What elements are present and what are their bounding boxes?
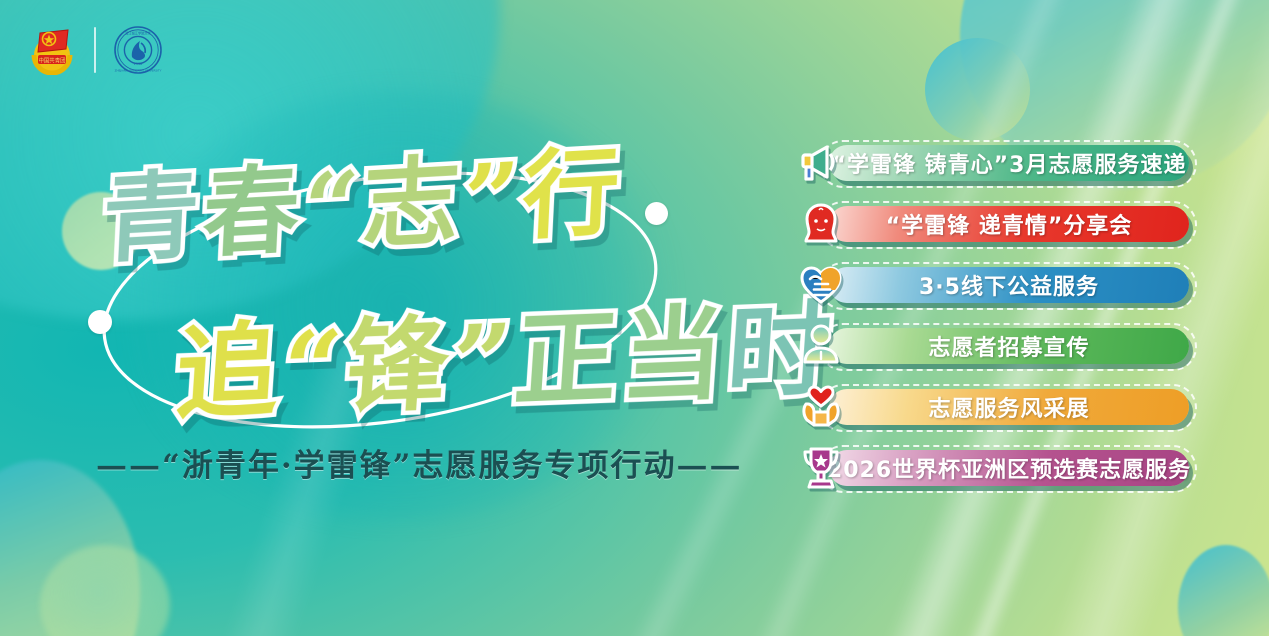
header-logos: 中国共青团 1918 浙江钱江学院大学 ZHEJIANG QIANJIANG U… — [24, 24, 166, 76]
menu-item-label: 3·5线下公益服务 — [919, 269, 1099, 301]
title-char: 追 — [172, 312, 286, 435]
svg-text:浙江钱江学院大学: 浙江钱江学院大学 — [125, 31, 151, 36]
pill-body[interactable]: “学雷锋 递青情”分享会 — [829, 206, 1189, 242]
megaphone-icon — [795, 136, 847, 188]
person-icon — [795, 319, 847, 371]
pill-body[interactable]: 3·5线下公益服务 — [829, 267, 1189, 303]
title-char: “ — [301, 149, 366, 265]
menu-item-sharing-session[interactable]: “学雷锋 递青情”分享会 — [795, 197, 1195, 257]
title-char: 春 — [200, 153, 306, 270]
menu-item-label: “学雷锋 递青情”分享会 — [886, 208, 1133, 240]
menu-item-offline-charity[interactable]: 3·5线下公益服务 — [795, 258, 1195, 318]
poster-canvas: 中国共青团 1918 浙江钱江学院大学 ZHEJIANG QIANJIANG U… — [0, 0, 1269, 636]
heart-in-hands-icon — [795, 380, 847, 432]
pill-body[interactable]: 志愿者招募宣传 — [829, 328, 1189, 364]
title-line-2: 追“锋”正当时 — [172, 267, 839, 439]
poster-title: 青春“志”行 追“锋”正当时 — [0, 128, 760, 448]
pill-body[interactable]: 志愿服务风采展 — [829, 389, 1189, 425]
svg-text:1918: 1918 — [134, 62, 143, 66]
background-circle-bottom-right — [1178, 545, 1269, 636]
title-char: “ — [279, 308, 350, 430]
pill-body[interactable]: “学雷锋 铸青心”3月志愿服务速递 — [829, 145, 1189, 181]
title-char: 锋 — [342, 305, 456, 428]
title-char: 青 — [100, 159, 206, 276]
title-char: ” — [460, 140, 525, 256]
menu-item-volunteer-express[interactable]: “学雷锋 铸青心”3月志愿服务速递 — [795, 136, 1195, 196]
menu-item-label: 志愿服务风采展 — [928, 391, 1089, 423]
menu-item-service-showcase[interactable]: 志愿服务风采展 — [795, 380, 1195, 440]
title-line-1: 青春“志”行 — [99, 114, 626, 282]
poster-subtitle: ——“浙青年·学雷锋”志愿服务专项行动—— — [96, 440, 736, 485]
menu-item-label: “学雷锋 铸青心”3月志愿服务速递 — [832, 147, 1187, 179]
title-char: 志 — [360, 144, 466, 261]
svg-text:中国共青团: 中国共青团 — [39, 56, 66, 64]
title-char: ” — [448, 302, 519, 424]
title-char: 行 — [520, 136, 626, 253]
title-char: 正 — [511, 299, 625, 422]
svg-text:ZHEJIANG QIANJIANG UNIVERSITY: ZHEJIANG QIANJIANG UNIVERSITY — [115, 69, 162, 73]
background-blob-bottom-left-2 — [40, 545, 170, 636]
menu-item-label: 2026世界杯亚洲区预选赛志愿服务 — [827, 452, 1191, 484]
title-char: 当 — [617, 295, 731, 418]
menu-item-world-cup-volunteer[interactable]: 2026世界杯亚洲区预选赛志愿服务 — [795, 441, 1195, 501]
hand-heart-icon — [795, 258, 847, 310]
background-circle-small-top-right — [925, 38, 1030, 141]
communist-youth-league-emblem-icon: 中国共青团 — [24, 25, 80, 75]
logo-divider — [94, 27, 96, 73]
activity-menu-list: “学雷锋 铸青心”3月志愿服务速递 “学雷锋 递青情”分享会 — [795, 136, 1195, 502]
background-blob-bottom-left — [0, 460, 140, 636]
menu-item-label: 志愿者招募宣传 — [928, 330, 1089, 362]
trophy-icon — [795, 441, 847, 493]
lei-feng-portrait-icon — [795, 197, 847, 249]
university-seal-emblem-icon: 1918 浙江钱江学院大学 ZHEJIANG QIANJIANG UNIVERS… — [110, 24, 166, 76]
pill-body[interactable]: 2026世界杯亚洲区预选赛志愿服务 — [829, 450, 1189, 486]
menu-item-volunteer-recruitment[interactable]: 志愿者招募宣传 — [795, 319, 1195, 379]
